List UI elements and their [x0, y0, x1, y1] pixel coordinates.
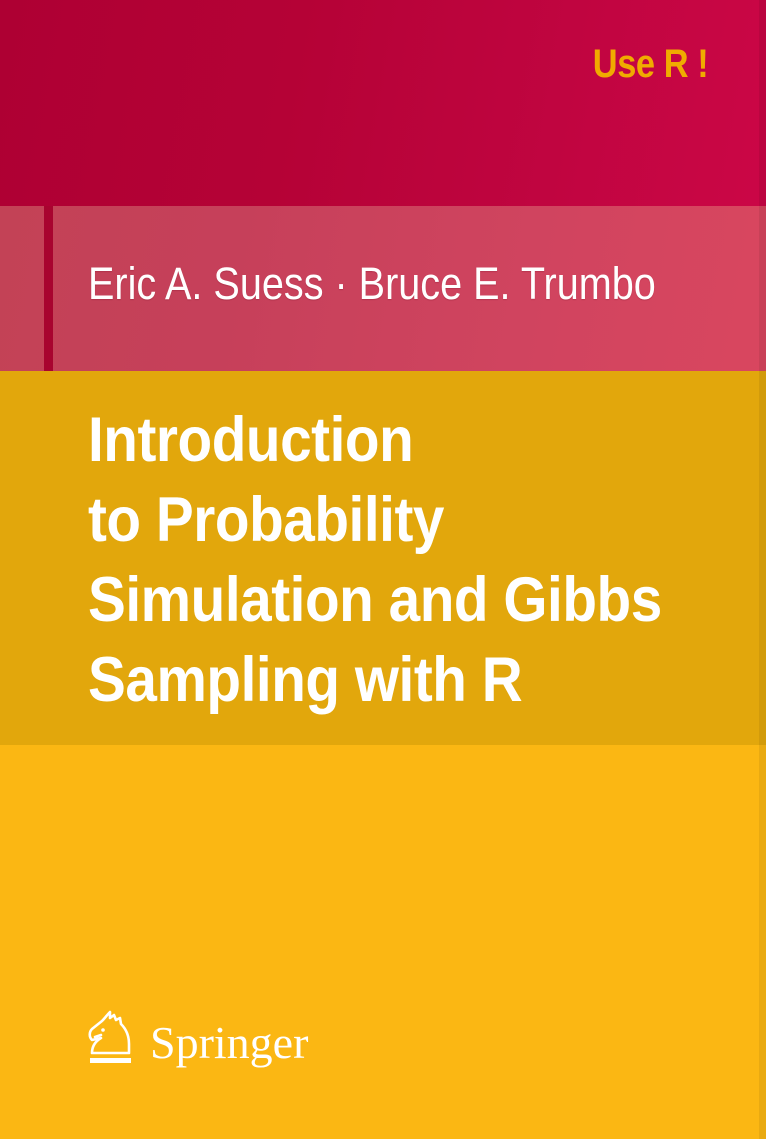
publisher-name: Springer — [150, 1020, 308, 1066]
title-line: Simulation and Gibbs — [88, 560, 664, 640]
book-title: Introduction to Probability Simulation a… — [88, 400, 664, 720]
springer-knight-icon — [80, 1008, 136, 1074]
title-line: Sampling with R — [88, 640, 664, 720]
top-color-band — [0, 0, 766, 206]
title-line: to Probability — [88, 480, 664, 560]
series-badge: Use R ! — [592, 42, 708, 87]
book-cover: Use R ! Eric A. Suess · Bruce E. Trumbo … — [0, 0, 766, 1139]
author-band-vertical-rule — [44, 206, 53, 371]
right-edge-shading — [759, 0, 766, 1139]
title-line: Introduction — [88, 400, 664, 480]
bottom-color-band — [0, 745, 766, 1139]
author-names: Eric A. Suess · Bruce E. Trumbo — [88, 258, 656, 310]
publisher-logo: Springer — [80, 1008, 308, 1074]
